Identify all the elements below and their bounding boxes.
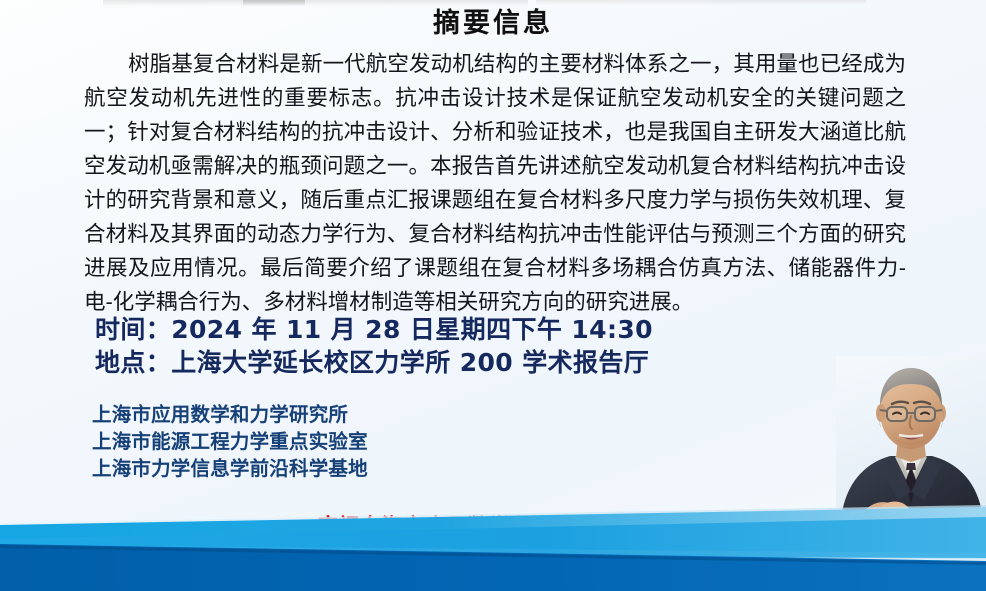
ribbon-shapes xyxy=(0,501,986,591)
event-time: 时间：2024 年 11 月 28 日星期四下午 14:30 xyxy=(95,313,653,346)
abstract-paragraph: 树脂基复合材料是新一代航空发动机结构的主要材料体系之一，其用量也已经成为航空发动… xyxy=(84,48,906,320)
event-meta-block: 时间：2024 年 11 月 28 日星期四下午 14:30 地点：上海大学延长… xyxy=(95,313,653,379)
presentation-slide: 摘要信息 树脂基复合材料是新一代航空发动机结构的主要材料体系之一，其用量也已经成… xyxy=(0,0,986,591)
organizer-list: 上海市应用数学和力学研究所 上海市能源工程力学重点实验室 上海市力学信息学前沿科… xyxy=(92,401,368,482)
organizer-item-2: 上海市能源工程力学重点实验室 xyxy=(92,428,368,455)
organizer-item-3: 上海市力学信息学前沿科学基地 xyxy=(92,455,368,482)
footer-ribbon-decoration xyxy=(0,501,986,591)
page-title: 摘要信息 xyxy=(0,1,986,40)
organizer-item-1: 上海市应用数学和力学研究所 xyxy=(92,401,368,428)
event-location: 地点：上海大学延长校区力学所 200 学术报告厅 xyxy=(95,346,653,379)
